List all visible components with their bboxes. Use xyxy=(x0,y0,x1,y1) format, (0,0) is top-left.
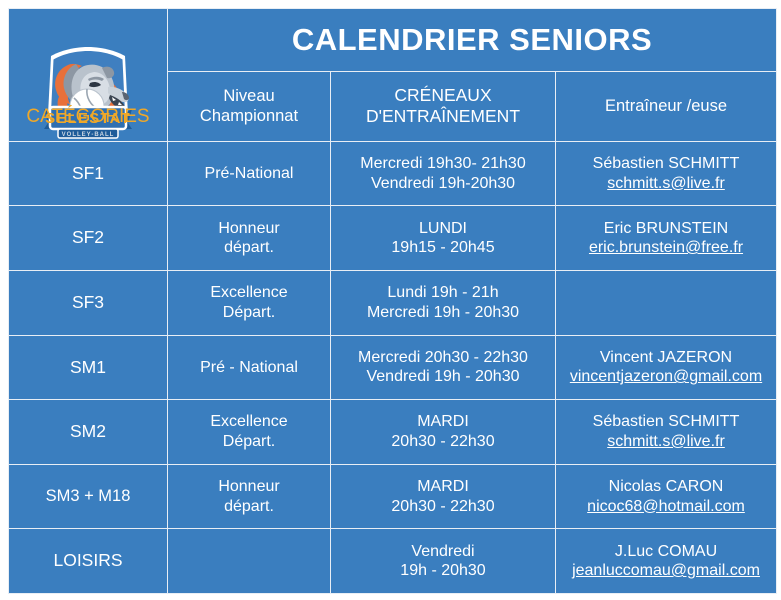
club-logo: SELESTAT VOLLEY-BALL xyxy=(24,43,152,141)
table-row: SM3 + M18Honneurdépart.MARDI20h30 - 22h3… xyxy=(9,464,777,529)
coach-email-link[interactable]: nicoc68@hotmail.com xyxy=(560,497,772,517)
cell-category: SM1 xyxy=(9,335,168,400)
cell-coach: Nicolas CARONnicoc68@hotmail.com xyxy=(556,464,777,529)
cell-level-line2: Départ. xyxy=(172,303,326,323)
seniors-calendar-table: SELESTAT VOLLEY-BALL CALENDRIER SENIORS … xyxy=(8,8,777,594)
coach-name: J.Luc COMAU xyxy=(560,542,772,562)
cell-slot-line2: 19h15 - 20h45 xyxy=(335,238,551,258)
table-row: SF2Honneurdépart.LUNDI19h15 - 20h45Eric … xyxy=(9,206,777,271)
cell-category: SM2 xyxy=(9,400,168,465)
cell-level: Honneurdépart. xyxy=(168,206,331,271)
coach-name: Nicolas CARON xyxy=(560,477,772,497)
cell-level: Pré-National xyxy=(168,141,331,206)
cell-coach xyxy=(556,270,777,335)
cell-slot-line1: Lundi 19h - 21h xyxy=(335,283,551,303)
coach-name: Eric BRUNSTEIN xyxy=(560,219,772,239)
cell-level-line2: départ. xyxy=(172,497,326,517)
cell-slot-line1: MARDI xyxy=(335,412,551,432)
header-creneaux-line1: CRÉNEAUX xyxy=(335,85,551,106)
coach-email-link[interactable]: vincentjazeron@gmail.com xyxy=(560,367,772,387)
cell-level-line1: Honneur xyxy=(172,477,326,497)
page-title: CALENDRIER SENIORS xyxy=(168,9,777,72)
cell-slot-line1: LUNDI xyxy=(335,219,551,239)
cell-level: Honneurdépart. xyxy=(168,464,331,529)
cell-slot-line1: MARDI xyxy=(335,477,551,497)
coach-email-link[interactable]: eric.brunstein@free.fr xyxy=(560,238,772,258)
header-creneaux-line2: D'ENTRAÎNEMENT xyxy=(335,106,551,127)
header-entraineur: Entraîneur /euse xyxy=(556,71,777,141)
cell-level-line1: Excellence xyxy=(172,412,326,432)
cell-training-slots: Vendredi19h - 20h30 xyxy=(331,529,556,594)
coach-name: Sébastien SCHMITT xyxy=(560,412,772,432)
coach-email-link[interactable]: jeanluccomau@gmail.com xyxy=(560,561,772,581)
cell-category: SF3 xyxy=(9,270,168,335)
cell-level: Pré - National xyxy=(168,335,331,400)
cell-category: SF2 xyxy=(9,206,168,271)
table-row: SM1Pré - NationalMercredi 20h30 - 22h30V… xyxy=(9,335,777,400)
cell-level xyxy=(168,529,331,594)
header-creneaux-entrainement: CRÉNEAUX D'ENTRAÎNEMENT xyxy=(331,71,556,141)
table-row: LOISIRSVendredi19h - 20h30J.Luc COMAUjea… xyxy=(9,529,777,594)
cell-slot-line2: Vendredi 19h-20h30 xyxy=(335,174,551,194)
cell-coach: J.Luc COMAUjeanluccomau@gmail.com xyxy=(556,529,777,594)
coach-email-link[interactable]: schmitt.s@live.fr xyxy=(560,432,772,452)
cell-slot-line2: 19h - 20h30 xyxy=(335,561,551,581)
cell-level: ExcellenceDépart. xyxy=(168,400,331,465)
cell-level-line2: départ. xyxy=(172,238,326,258)
cell-slot-line1: Mercredi 20h30 - 22h30 xyxy=(335,348,551,368)
cell-level-line1: Pré - National xyxy=(172,358,326,378)
cell-coach: Sébastien SCHMITTschmitt.s@live.fr xyxy=(556,400,777,465)
cell-slot-line2: 20h30 - 22h30 xyxy=(335,432,551,452)
coach-email-link[interactable]: schmitt.s@live.fr xyxy=(560,174,772,194)
table-row: SF1Pré-NationalMercredi 19h30- 21h30Vend… xyxy=(9,141,777,206)
logo-cell: SELESTAT VOLLEY-BALL xyxy=(9,9,168,142)
cell-coach: Eric BRUNSTEINeric.brunstein@free.fr xyxy=(556,206,777,271)
cell-level-line2: Départ. xyxy=(172,432,326,452)
title-row: SELESTAT VOLLEY-BALL CALENDRIER SENIORS xyxy=(9,9,777,72)
selestat-volley-ball-logo-icon: SELESTAT VOLLEY-BALL xyxy=(24,43,152,141)
cell-coach: Sébastien SCHMITTschmitt.s@live.fr xyxy=(556,141,777,206)
coach-name: Sébastien SCHMITT xyxy=(560,154,772,174)
table-row: SM2ExcellenceDépart.MARDI20h30 - 22h30Sé… xyxy=(9,400,777,465)
cell-slot-line2: Vendredi 19h - 20h30 xyxy=(335,367,551,387)
cell-training-slots: MARDI20h30 - 22h30 xyxy=(331,464,556,529)
cell-slot-line1: Vendredi xyxy=(335,542,551,562)
calendar-sheet: SELESTAT VOLLEY-BALL CALENDRIER SENIORS … xyxy=(8,8,776,594)
logo-club-text: SELESTAT xyxy=(45,110,131,127)
cell-slot-line2: 20h30 - 22h30 xyxy=(335,497,551,517)
cell-level-line1: Pré-National xyxy=(172,164,326,184)
logo-discipline-text: VOLLEY-BALL xyxy=(62,132,115,138)
cell-category: LOISIRS xyxy=(9,529,168,594)
cell-category: SM3 + M18 xyxy=(9,464,168,529)
cell-level-line1: Honneur xyxy=(172,219,326,239)
cell-level-line1: Excellence xyxy=(172,283,326,303)
cell-training-slots: Mercredi 19h30- 21h30Vendredi 19h-20h30 xyxy=(331,141,556,206)
cell-training-slots: Mercredi 20h30 - 22h30Vendredi 19h - 20h… xyxy=(331,335,556,400)
cell-coach: Vincent JAZERONvincentjazeron@gmail.com xyxy=(556,335,777,400)
cell-slot-line2: Mercredi 19h - 20h30 xyxy=(335,303,551,323)
cell-training-slots: MARDI20h30 - 22h30 xyxy=(331,400,556,465)
table-row: SF3ExcellenceDépart.Lundi 19h - 21hMercr… xyxy=(9,270,777,335)
cell-slot-line1: Mercredi 19h30- 21h30 xyxy=(335,154,551,174)
cell-training-slots: Lundi 19h - 21hMercredi 19h - 20h30 xyxy=(331,270,556,335)
cell-category: SF1 xyxy=(9,141,168,206)
coach-name: Vincent JAZERON xyxy=(560,348,772,368)
cell-training-slots: LUNDI19h15 - 20h45 xyxy=(331,206,556,271)
cell-level: ExcellenceDépart. xyxy=(168,270,331,335)
header-niveau-championnat: Niveau Championnat xyxy=(168,71,331,141)
